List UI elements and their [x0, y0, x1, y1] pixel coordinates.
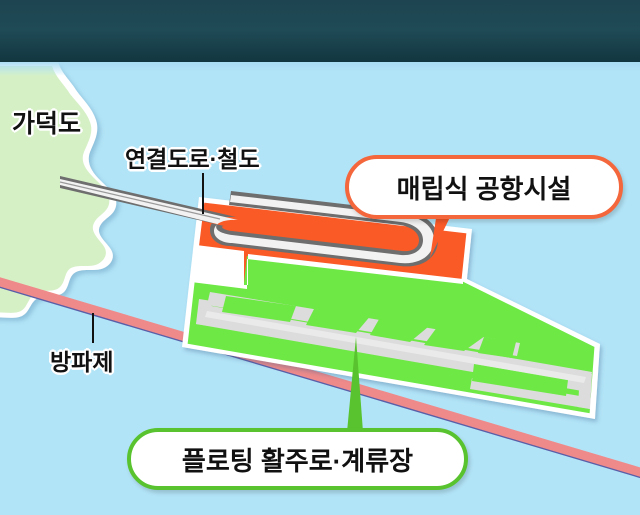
- leader-line-breakwater: [92, 313, 94, 343]
- callout-reclaimed-airport-facility: 매립식 공항시설: [345, 155, 623, 219]
- label-gadeokdo: 가덕도: [12, 104, 81, 140]
- label-breakwater: 방파제: [50, 343, 113, 377]
- gadeok-new-airport-island: [182, 197, 600, 419]
- label-connecting-road-rail: 연결도로·철도: [125, 140, 260, 174]
- header-underglow: [0, 62, 640, 76]
- header-bar: [0, 0, 640, 62]
- callout-floating-runway-apron: 플로팅 활주로·계류장: [127, 428, 468, 490]
- leader-line-connecting-road-rail: [202, 173, 204, 214]
- infographic-canvas: 가덕신공항 조성 계획도 가덕도 연결도로·철도 방파제 매립식 공항시설 플로…: [0, 0, 640, 515]
